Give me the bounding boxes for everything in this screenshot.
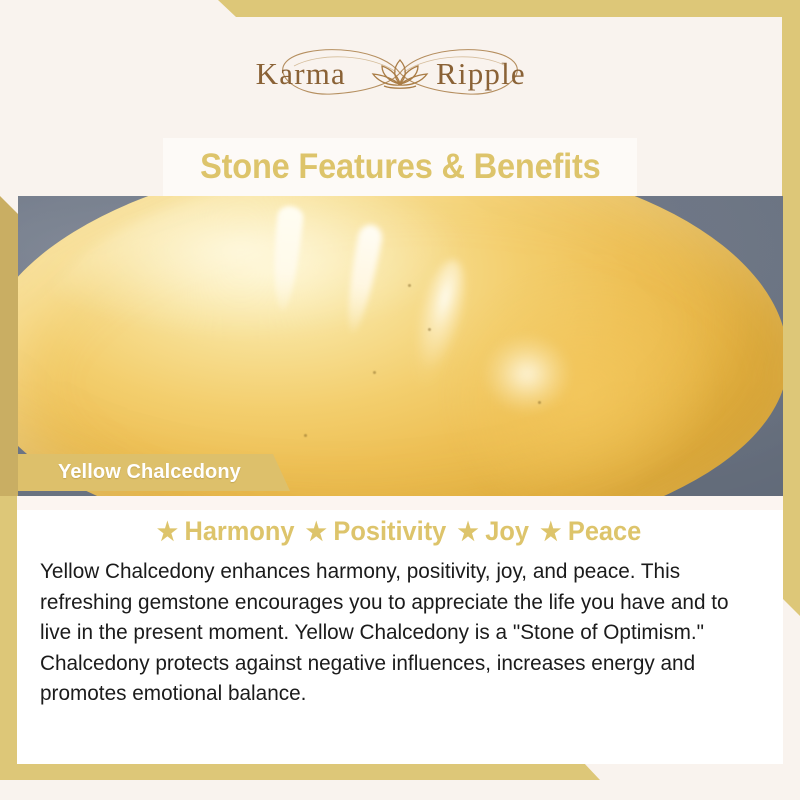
brand-name-left: Karma: [256, 56, 346, 91]
keyword-list: ★Harmony★Positivity★Joy★Peace: [40, 516, 760, 547]
stone-name-banner: Yellow Chalcedony: [18, 454, 290, 491]
page-bottom-strip: [0, 780, 800, 800]
gold-frame-right: [782, 0, 800, 616]
stone-speck: [304, 434, 307, 437]
brand-logo: Karma Ripple: [0, 42, 800, 104]
logo-band: Karma Ripple: [0, 0, 800, 138]
star-icon: ★: [458, 518, 479, 546]
keyword-joy: Joy: [485, 516, 529, 546]
stone-speck: [373, 371, 376, 374]
gold-frame-left: [0, 494, 17, 780]
page-title: Stone Features & Benefits: [200, 147, 601, 187]
star-icon: ★: [540, 518, 561, 546]
stone-name-label: Yellow Chalcedony: [18, 461, 241, 484]
stone-speck: [428, 328, 431, 331]
keyword-peace: Peace: [568, 516, 641, 546]
stone-speck: [538, 401, 541, 404]
gemstone-photo: [18, 196, 783, 496]
chalcedony-stone: [18, 196, 783, 496]
star-icon: ★: [157, 518, 178, 546]
stone-speck: [408, 284, 411, 287]
brand-name-right: Ripple: [436, 56, 526, 91]
card-top-tint: [17, 496, 783, 510]
gold-frame-bottom: [0, 762, 600, 780]
keyword-harmony: Harmony: [184, 516, 294, 546]
star-icon: ★: [306, 518, 327, 546]
description-card: ★Harmony★Positivity★Joy★Peace Yellow Cha…: [17, 496, 783, 764]
section-title-band: Stone Features & Benefits: [163, 138, 637, 196]
infographic-page: Karma Ripple Stone Features & Benefits Y…: [0, 0, 800, 800]
stone-highlight-4: [473, 326, 593, 446]
gold-frame-left-accent: [0, 196, 18, 496]
brand-logo-graphic: Karma Ripple: [250, 42, 550, 104]
keyword-positivity: Positivity: [333, 516, 446, 546]
description-text: Yellow Chalcedony enhances harmony, posi…: [40, 556, 737, 709]
